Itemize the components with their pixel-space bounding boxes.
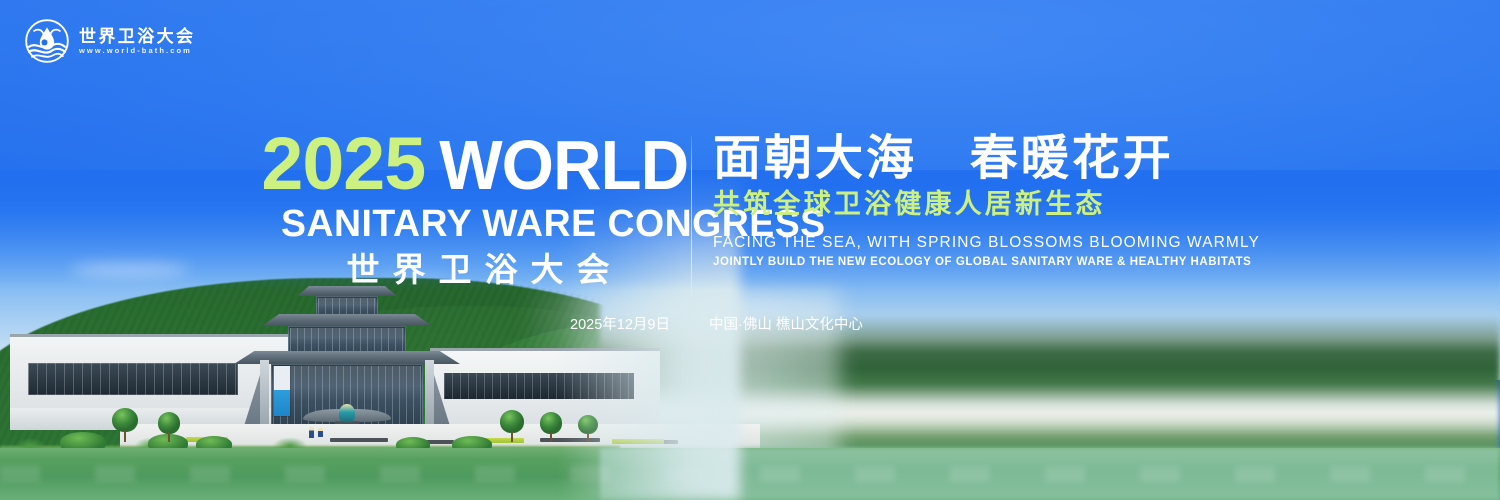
tree-trunk: [124, 430, 126, 442]
roof-tier-2: [262, 314, 432, 326]
title-english-subtitle: SANITARY WARE CONGRESS: [281, 205, 675, 243]
slogan-part-1: 面朝大海: [713, 132, 917, 185]
glass-facade: [28, 363, 238, 395]
plaza-sculpture: [339, 404, 355, 422]
tree-crown: [158, 412, 180, 434]
plaza-step: [330, 438, 388, 442]
pagoda-cultural-center: [232, 278, 462, 438]
tree-crown: [500, 410, 524, 433]
title-year: 2025: [261, 132, 425, 196]
slogan-english-sub: JOINTLY BUILD THE NEW ECOLOGY OF GLOBAL …: [713, 256, 1253, 268]
title-chinese-name: 世界卫浴大会: [278, 253, 678, 286]
vertical-banner-sign: [274, 366, 290, 416]
tree-trunk: [550, 432, 552, 442]
title-world: WORLD: [439, 135, 688, 195]
slogan-english-main: FACING THE SEA, WITH SPRING BLOSSOMS BLO…: [713, 234, 1253, 252]
event-date: 2025年12月9日: [570, 313, 670, 334]
logo-chinese-name: 世界卫浴大会: [79, 28, 195, 45]
pillar-right: [425, 360, 434, 426]
logo[interactable]: 世界卫浴大会 www.world-bath.com: [24, 18, 195, 64]
title-line-primary: 2025 WORLD: [278, 132, 678, 196]
water-reflection: [0, 466, 1500, 482]
slogan-chinese-main: 面朝大海 春暖花开: [713, 134, 1253, 184]
tree-trunk: [511, 431, 513, 442]
slogan-chinese-sub: 共筑全球卫浴健康人居新生态: [713, 190, 1253, 220]
tree-crown: [540, 412, 562, 434]
pillar-left: [260, 360, 269, 426]
event-venue: 中国·佛山 樵山文化中心: [709, 313, 863, 334]
logo-text: 世界卫浴大会 www.world-bath.com: [79, 28, 195, 55]
slogan-part-2: 春暖花开: [970, 132, 1174, 185]
tree: [540, 412, 562, 442]
tree: [500, 410, 524, 442]
world-bath-emblem-icon: [24, 18, 70, 64]
tree: [112, 408, 138, 442]
slogan-block: 面朝大海 春暖花开 共筑全球卫浴健康人居新生态 FACING THE SEA, …: [713, 134, 1253, 268]
tree-crown: [112, 408, 138, 432]
event-title-block: 2025 WORLD SANITARY WARE CONGRESS 世界卫浴大会: [278, 132, 678, 286]
event-banner: 世界卫浴大会 www.world-bath.com 2025 WORLD SAN…: [0, 0, 1500, 500]
tree: [158, 412, 180, 442]
tree-trunk: [168, 432, 170, 442]
logo-website-url: www.world-bath.com: [79, 47, 195, 55]
vertical-divider: [691, 136, 692, 296]
